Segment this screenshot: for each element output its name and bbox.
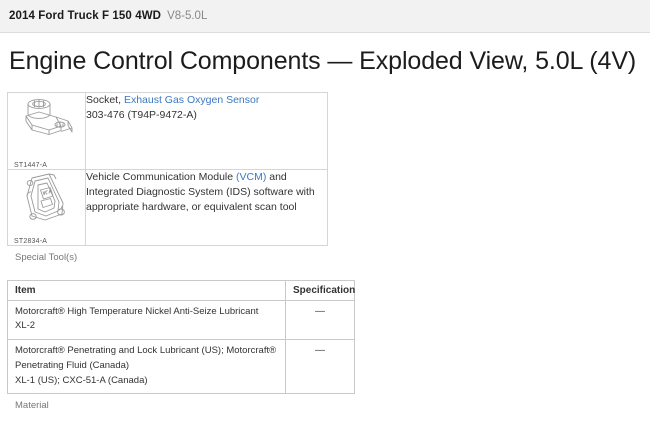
special-tools-table: ST1447-A Socket, Exhaust Gas Oxygen Sens… [7, 92, 328, 246]
socket-tool-icon [8, 95, 85, 148]
material-table: Item Specification Motorcraft® High Temp… [7, 280, 355, 395]
material-item-line2: Penetrating Fluid (Canada) [15, 359, 278, 374]
tool-desc-link[interactable]: Exhaust Gas Oxygen Sensor [124, 94, 259, 106]
special-tools-caption: Special Tool(s) [15, 252, 650, 263]
tool-desc-prefix: Socket, [86, 94, 124, 106]
tool-desc-link[interactable]: (VCM) [236, 171, 266, 183]
tool-desc-secondary: 303-476 (T94P-9472-A) [86, 108, 327, 123]
material-specification-cell: — [286, 300, 355, 339]
column-header-item: Item [8, 280, 286, 300]
vehicle-info-bar: 2014 Ford Truck F 150 4WD V8-5.0L [0, 0, 650, 33]
material-section: Item Specification Motorcraft® High Temp… [7, 280, 650, 412]
page-title: Engine Control Components — Exploded Vie… [0, 33, 650, 76]
table-row: ST1447-A Socket, Exhaust Gas Oxygen Sens… [8, 92, 328, 169]
vcm-scan-tool-icon [8, 172, 85, 229]
material-item-cell: Motorcraft® High Temperature Nickel Anti… [8, 300, 286, 339]
vehicle-name-label: 2014 Ford Truck F 150 4WD [9, 10, 161, 22]
tool-figure-cell: ST1447-A [8, 92, 86, 169]
material-caption: Material [15, 400, 650, 411]
tool-desc-prefix: Vehicle Communication Module [86, 171, 236, 183]
tool-figure-cell: ST2834-A [8, 169, 86, 245]
vehicle-engine-label: V8-5.0L [167, 10, 207, 22]
material-item-cell: Motorcraft® Penetrating and Lock Lubrica… [8, 340, 286, 394]
tool-description-cell: Vehicle Communication Module (VCM) and I… [86, 169, 328, 245]
material-item-line1: Motorcraft® Penetrating and Lock Lubrica… [15, 344, 278, 359]
table-row: Motorcraft® Penetrating and Lock Lubrica… [8, 340, 355, 394]
column-header-specification: Specification [286, 280, 355, 300]
special-tools-section: ST1447-A Socket, Exhaust Gas Oxygen Sens… [7, 92, 650, 263]
tool-description-cell: Socket, Exhaust Gas Oxygen Sensor 303-47… [86, 92, 328, 169]
table-header-row: Item Specification [8, 280, 355, 300]
tool-figure-id: ST1447-A [8, 162, 85, 169]
material-item-line2: XL-2 [15, 319, 278, 334]
table-row: ST2834-A Vehicle Communication Module (V… [8, 169, 328, 245]
tool-figure-id: ST2834-A [8, 238, 85, 245]
table-row: Motorcraft® High Temperature Nickel Anti… [8, 300, 355, 339]
material-item-line1: Motorcraft® High Temperature Nickel Anti… [15, 305, 278, 320]
material-specification-cell: — [286, 340, 355, 394]
material-item-line3: XL-1 (US); CXC-51-A (Canada) [15, 374, 278, 389]
